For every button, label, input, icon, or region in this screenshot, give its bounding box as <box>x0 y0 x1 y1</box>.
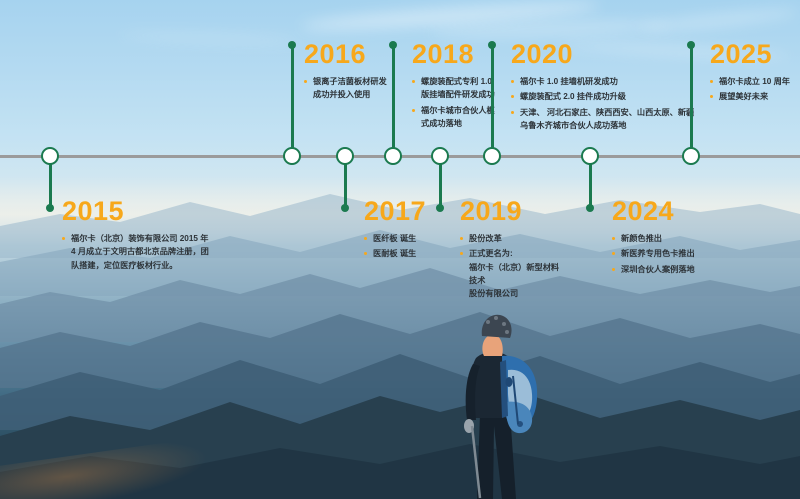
timeline-bullet-item: 深圳合伙人案例落地 <box>612 263 732 276</box>
timeline-bullet-item: 螺旋装配式 2.0 挂件成功升级 <box>511 90 696 103</box>
timeline-bullet-item: 展望美好未来 <box>710 90 800 103</box>
timeline-bullet-item: 新医养专用色卡推出 <box>612 247 732 260</box>
timeline-year-label-2019: 2019 <box>460 198 560 225</box>
timeline-bullet-list-2017: 医纤板 诞生医耐板 诞生 <box>364 232 454 261</box>
timeline-stem-2025 <box>690 45 693 155</box>
timeline-node-2020[interactable] <box>483 147 501 165</box>
timeline-node-2016[interactable] <box>283 147 301 165</box>
timeline-bullet-list-2020: 福尔卡 1.0 挂墙机研发成功螺旋装配式 2.0 挂件成功升级天津、 河北石家庄… <box>511 75 696 132</box>
timeline-year-label-2020: 2020 <box>511 41 696 68</box>
timeline-bullet-item: 天津、 河北石家庄、陕西西安、山西太原、新疆 乌鲁木齐城市合伙人成功落地 <box>511 106 696 133</box>
timeline-bullet-item: 新颜色推出 <box>612 232 732 245</box>
timeline-bullet-item: 正式更名为: 福尔卡（北京）新型材料技术 股份有限公司 <box>460 247 560 300</box>
timeline-year-label-2024: 2024 <box>612 198 732 225</box>
timeline-year-label-2025: 2025 <box>710 41 800 68</box>
timeline-bullet-item: 股份改革 <box>460 232 560 245</box>
timeline-node-2017[interactable] <box>336 147 354 165</box>
timeline-bullet-list-2025: 福尔卡成立 10 周年展望美好未来 <box>710 75 800 104</box>
timeline-bullet-list-2019: 股份改革正式更名为: 福尔卡（北京）新型材料技术 股份有限公司 <box>460 232 560 300</box>
timeline-entry-2020[interactable]: 2020福尔卡 1.0 挂墙机研发成功螺旋装配式 2.0 挂件成功升级天津、 河… <box>511 41 696 134</box>
timeline-bullet-list-2015: 福尔卡（北京）装饰有限公司 2015 年 4 月成立于文明古都北京品牌注册，团 … <box>62 232 214 272</box>
timeline-node-2015[interactable] <box>41 147 59 165</box>
timeline-bullet-item: 福尔卡 1.0 挂墙机研发成功 <box>511 75 696 88</box>
timeline-node-2024[interactable] <box>581 147 599 165</box>
timeline-stem-2018 <box>392 45 395 155</box>
timeline-entry-2016[interactable]: 2016银离子洁菌板材研发 成功并投入使用 <box>304 41 394 104</box>
timeline-bullet-item: 医耐板 诞生 <box>364 247 454 260</box>
timeline-bullet-list-2024: 新颜色推出新医养专用色卡推出深圳合伙人案例落地 <box>612 232 732 276</box>
timeline-stem-2016 <box>291 45 294 155</box>
timeline-node-2018[interactable] <box>384 147 402 165</box>
timeline-node-2025[interactable] <box>682 147 700 165</box>
timeline-bullet-item: 福尔卡成立 10 周年 <box>710 75 800 88</box>
timeline-bullet-item: 医纤板 诞生 <box>364 232 454 245</box>
timeline-bullet-item: 银离子洁菌板材研发 成功并投入使用 <box>304 75 394 102</box>
timeline-entry-2015[interactable]: 2015福尔卡（北京）装饰有限公司 2015 年 4 月成立于文明古都北京品牌注… <box>62 198 214 274</box>
timeline-stem-2020 <box>491 45 494 155</box>
hiker-figure <box>436 306 556 499</box>
timeline-bullet-item: 福尔卡（北京）装饰有限公司 2015 年 4 月成立于文明古都北京品牌注册，团 … <box>62 232 214 272</box>
timeline-bullet-list-2016: 银离子洁菌板材研发 成功并投入使用 <box>304 75 394 102</box>
timeline-entry-2019[interactable]: 2019股份改革正式更名为: 福尔卡（北京）新型材料技术 股份有限公司 <box>460 198 560 302</box>
timeline-year-label-2015: 2015 <box>62 198 214 225</box>
timeline-entry-2024[interactable]: 2024新颜色推出新医养专用色卡推出深圳合伙人案例落地 <box>612 198 732 278</box>
timeline-node-2019[interactable] <box>431 147 449 165</box>
timeline-entry-2025[interactable]: 2025福尔卡成立 10 周年展望美好未来 <box>710 41 800 106</box>
timeline-infographic: 2015福尔卡（北京）装饰有限公司 2015 年 4 月成立于文明古都北京品牌注… <box>0 0 800 499</box>
timeline-year-label-2016: 2016 <box>304 41 394 68</box>
